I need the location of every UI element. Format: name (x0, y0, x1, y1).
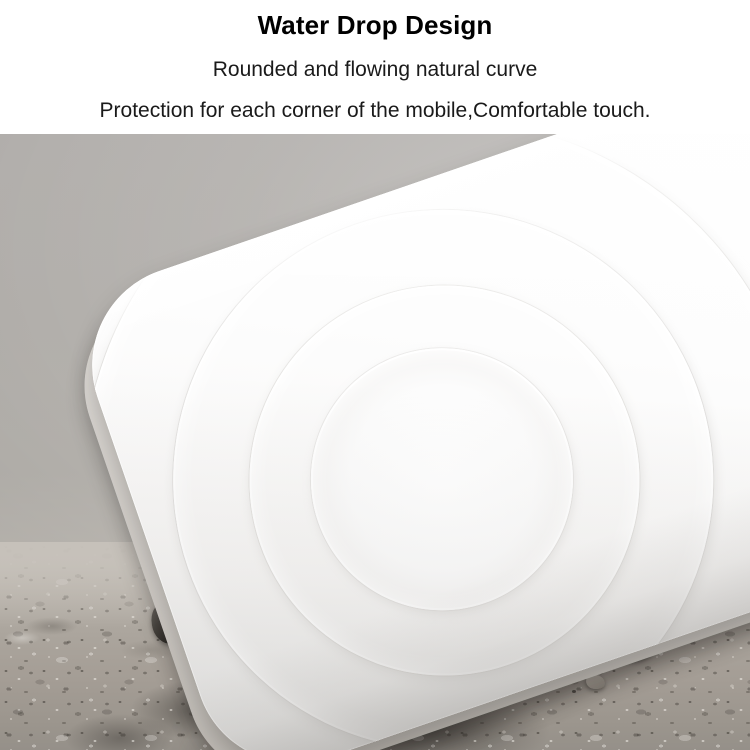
page-title: Water Drop Design (0, 9, 750, 41)
subtitle-line-1: Rounded and flowing natural curve (0, 57, 750, 83)
subtitle-line-2: Protection for each corner of the mobile… (0, 98, 750, 124)
header-text-block: Water Drop Design Rounded and flowing na… (0, 0, 750, 134)
product-feature-banner: Water Drop Design Rounded and flowing na… (0, 0, 750, 750)
phone-case (0, 134, 750, 750)
product-photo (0, 134, 750, 750)
